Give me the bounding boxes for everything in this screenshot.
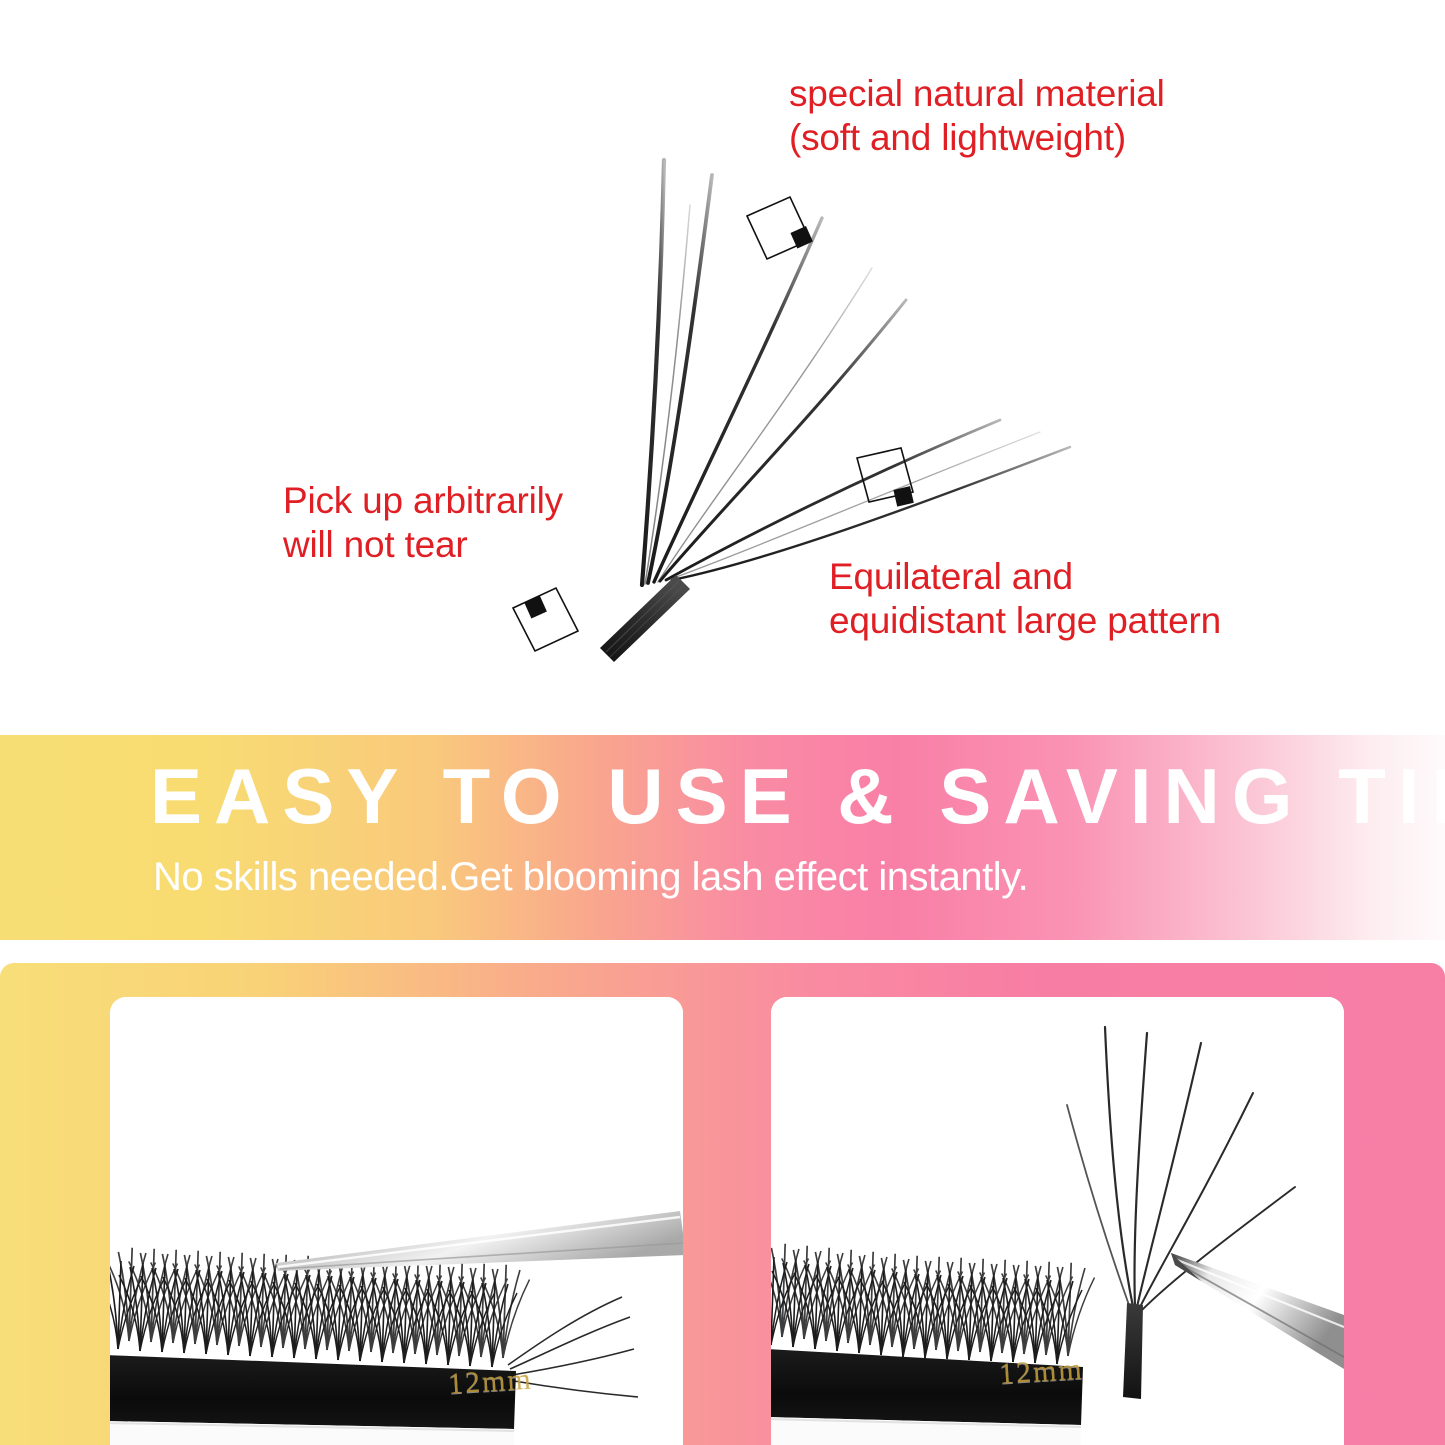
product-diagram-section: special natural material (soft and light… bbox=[0, 0, 1445, 735]
fan-base bbox=[600, 575, 690, 662]
lash-tray-photo bbox=[110, 997, 683, 1445]
callout-marker-base bbox=[513, 588, 578, 651]
callout-marker-top bbox=[747, 197, 813, 259]
callout-special-material: special natural material (soft and light… bbox=[789, 72, 1165, 159]
callout-equilateral: Equilateral and equidistant large patter… bbox=[829, 555, 1221, 642]
size-label: 12mm bbox=[447, 1362, 534, 1401]
banner-title: EASY TO USE & SAVING TIME bbox=[150, 757, 1445, 835]
banner-subtitle: No skills needed.Get blooming lash effec… bbox=[153, 855, 1028, 900]
photo-panel: 12mm bbox=[0, 963, 1445, 1445]
lash-fan-illustration bbox=[0, 0, 1445, 735]
photo-card-lash-tray: 12mm bbox=[110, 997, 683, 1445]
headline-banner: EASY TO USE & SAVING TIME No skills need… bbox=[0, 735, 1445, 940]
callout-marker-right bbox=[857, 448, 914, 507]
size-label: 12mm bbox=[998, 1352, 1085, 1391]
photo-card-fan-pickup: 12mm bbox=[771, 997, 1344, 1445]
callout-pick-up: Pick up arbitrarily will not tear bbox=[283, 479, 563, 566]
